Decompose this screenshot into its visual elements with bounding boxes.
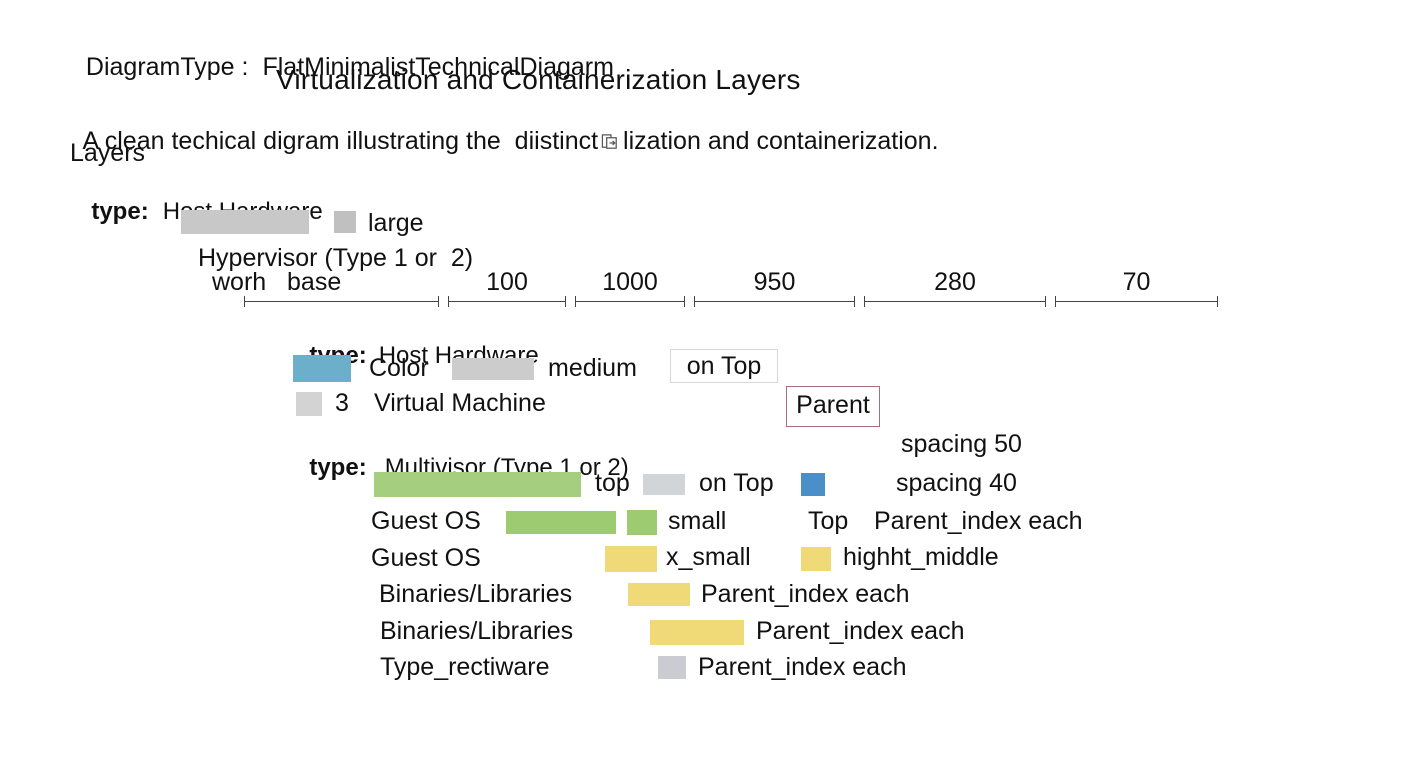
label-virtual-machine: Virtual Machine: [374, 391, 546, 416]
box-on-top[interactable]: on Top: [670, 349, 778, 383]
type-key: type:: [309, 454, 366, 481]
box-on-top-label: on Top: [671, 354, 777, 379]
bar-green-top: [374, 472, 581, 497]
label-spacing-40: spacing 40: [896, 471, 1017, 496]
label-type-rectiware: Type_rectiware: [380, 655, 550, 680]
type-key: type:: [91, 198, 148, 225]
label-binaries-libraries-2: Binaries/Libraries: [380, 619, 573, 644]
scale-tick-left: [575, 296, 576, 307]
scale-segment: 280: [864, 296, 1046, 308]
page-title: Virtualization and Containerization Laye…: [276, 66, 801, 94]
scale-segment-line: [244, 301, 439, 302]
box-parent-label: Parent: [787, 393, 879, 418]
scale-segment: 70: [1055, 296, 1218, 308]
measurement-scale: 100100095028070: [244, 286, 1192, 308]
scale-segment-line: [694, 301, 855, 302]
label-top: top: [595, 471, 630, 496]
label-parent-index-3: Parent_index each: [756, 619, 964, 644]
layers-heading: Layers: [70, 141, 145, 166]
scale-segment-line: [448, 301, 566, 302]
scale-tick-left: [694, 296, 695, 307]
label-parent-index-2: Parent_index each: [701, 582, 909, 607]
scale-tick-left: [864, 296, 865, 307]
label-vm-count: 3: [335, 391, 349, 416]
scale-segment-line: [1055, 301, 1218, 302]
scale-tick-left: [448, 296, 449, 307]
label-small: small: [668, 509, 726, 534]
scale-segment-label: 100: [448, 270, 566, 295]
scale-tick-right: [1217, 296, 1218, 307]
label-guest-os-2: Guest OS: [371, 546, 481, 571]
label-x-small: x_small: [666, 545, 751, 570]
label-large: large: [368, 211, 424, 236]
copy-document-arrow-icon: [601, 132, 620, 151]
scale-segment: 100: [448, 296, 566, 308]
scale-tick-left: [244, 296, 245, 307]
description-part-2: lization and containerization.: [623, 127, 938, 155]
box-parent[interactable]: Parent: [786, 386, 880, 427]
bar-host-hardware: [181, 210, 309, 234]
scale-segment: 1000: [575, 296, 685, 308]
scale-segment-line: [575, 301, 685, 302]
scale-segment-label: 70: [1055, 270, 1218, 295]
swatch-large: [334, 211, 356, 233]
scale-tick-right: [565, 296, 566, 307]
bar-medium: [452, 358, 534, 380]
swatch-on-top-blue: [801, 473, 825, 496]
scale-segment-line: [864, 301, 1046, 302]
label-top-position: Top: [808, 509, 848, 534]
label-medium: medium: [548, 356, 637, 381]
bar-binaries-1: [628, 583, 690, 606]
diagram-type-label: DiagramType :: [86, 53, 249, 81]
label-highht-middle: highht_middle: [843, 545, 999, 570]
swatch-highht-middle: [801, 547, 831, 571]
swatch-type-rectiware: [658, 656, 686, 679]
scale-segment: [244, 296, 439, 308]
scale-tick-right: [438, 296, 439, 307]
scale-segment-label: 280: [864, 270, 1046, 295]
scale-segment-label: 1000: [575, 270, 685, 295]
label-parent-index-4: Parent_index each: [698, 655, 906, 680]
swatch-on-top-gray: [643, 474, 685, 495]
swatch-color-blue: [293, 355, 351, 382]
description-text: A clean techical digram illustrating the…: [70, 104, 939, 154]
label-color: Color: [369, 356, 429, 381]
scale-segment-label: 950: [694, 270, 855, 295]
label-parent-index-1: Parent_index each: [874, 509, 1082, 534]
scale-tick-right: [854, 296, 855, 307]
label-binaries-libraries-1: Binaries/Libraries: [379, 582, 572, 607]
label-guest-os-1: Guest OS: [371, 509, 481, 534]
label-spacing-50: spacing 50: [901, 432, 1022, 457]
description-part-1: A clean techical digram illustrating the…: [83, 127, 599, 155]
bar-guest-os-2: [605, 546, 657, 572]
swatch-virtual-machine: [296, 392, 322, 416]
scale-segment: 950: [694, 296, 855, 308]
label-on-top-2: on Top: [699, 471, 774, 496]
swatch-guest-os-1: [627, 510, 657, 535]
scale-tick-left: [1055, 296, 1056, 307]
bar-guest-os-1: [506, 511, 616, 534]
scale-tick-right: [1045, 296, 1046, 307]
bar-binaries-2: [650, 620, 744, 645]
scale-tick-right: [684, 296, 685, 307]
